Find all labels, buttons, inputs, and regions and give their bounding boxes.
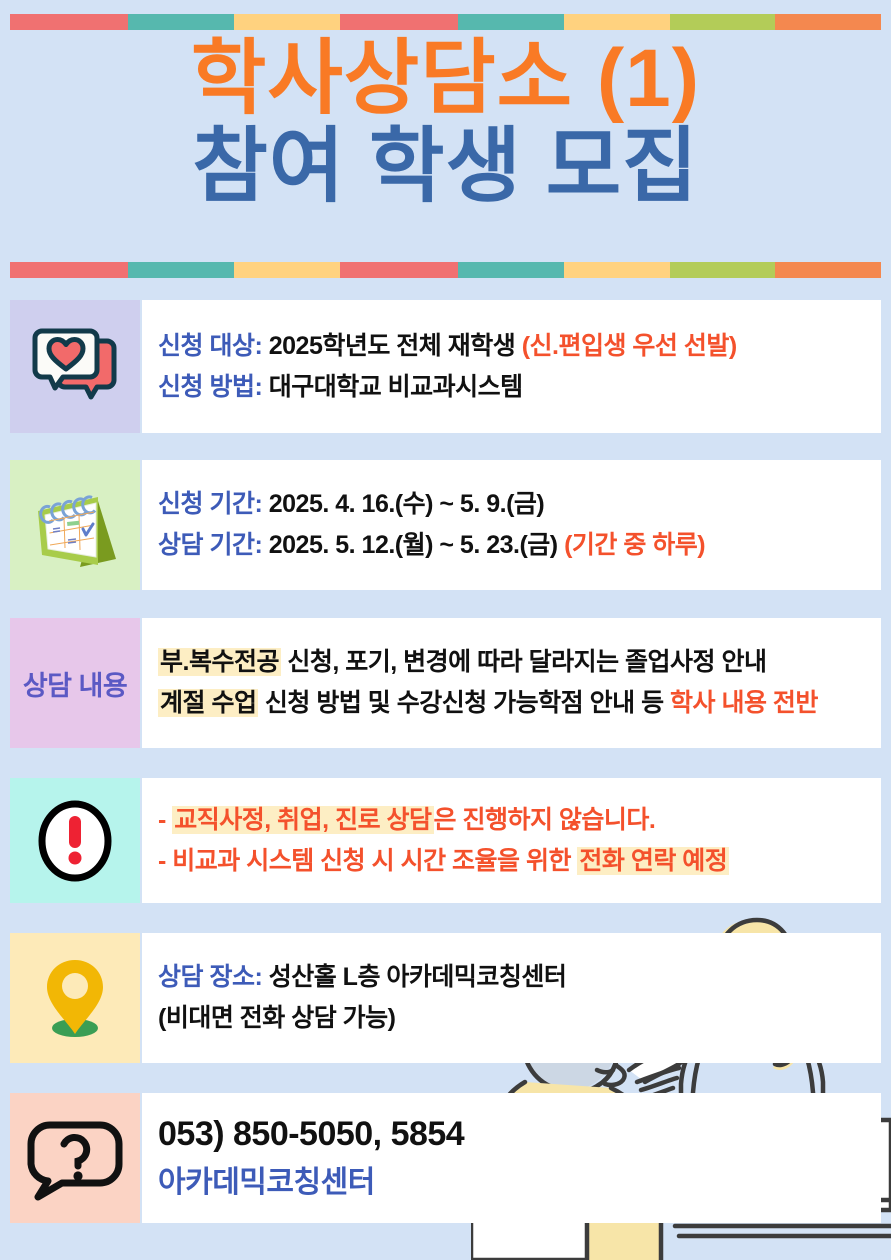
period-consult-accent: (기간 중 하루) (564, 531, 705, 559)
period-apply-label: 신청 기간: (158, 490, 262, 518)
content-value-2: 신청 방법 및 수강신청 가능학점 안내 등 (258, 689, 670, 717)
content-accent-2: 학사 내용 전반 (670, 689, 818, 717)
exclamation-circle-icon (36, 798, 114, 884)
top-color-stripe-bar (10, 14, 881, 30)
notice-highlight-1: 교직사정, 취업, 진로 상담 (172, 806, 433, 834)
stripe-segment (775, 14, 881, 30)
content-value-1: 신청, 포기, 변경에 따라 달라지는 졸업사정 안내 (281, 648, 767, 676)
contact-phone: 053) 850-5050, 5854 (158, 1115, 881, 1154)
stripe-segment (10, 14, 128, 30)
stripe-segment (670, 14, 776, 30)
notice-line-2: - 비교과 시스템 신청 시 시간 조율을 위한 전화 연락 예정 (158, 847, 881, 876)
target-method-label: 신청 방법: (158, 373, 262, 401)
info-row-contact: 053) 850-5050, 5854 아카데믹코칭센터 (10, 1093, 881, 1223)
notice-value-1: 은 진행하지 않습니다. (434, 806, 656, 834)
stripe-segment (775, 262, 881, 278)
info-row-notice: - 교직사정, 취업, 진로 상담은 진행하지 않습니다. - 비교과 시스템 … (10, 778, 881, 903)
info-row-period: 신청 기간: 2025. 4. 16.(수) ~ 5. 9.(금) 상담 기간:… (10, 460, 881, 590)
icon-cell-notice (10, 778, 140, 903)
notice-dash-1: - (158, 806, 166, 834)
period-consult-value: 2025. 5. 12.(월) ~ 5. 23.(금) (269, 531, 558, 559)
info-row-place: 상담 장소: 성산홀 L층 아카데믹코칭센터 (비대면 전화 상담 가능) (10, 933, 881, 1063)
content-highlight-1: 부.복수전공 (158, 648, 281, 676)
place-value: 성산홀 L층 아카데믹코칭센터 (269, 963, 567, 991)
target-apply-value: 2025학년도 전체 재학생 (269, 332, 516, 360)
place-note: (비대면 전화 상담 가능) (158, 1004, 396, 1032)
target-method-line: 신청 방법: 대구대학교 비교과시스템 (158, 373, 881, 402)
poster-title-block: 학사상담소 (1) 참여 학생 모집 (0, 38, 891, 208)
question-bubble-icon (26, 1115, 124, 1201)
stripe-segment (128, 14, 234, 30)
info-row-content: 상담 내용 부.복수전공 신청, 포기, 변경에 따라 달라지는 졸업사정 안내… (10, 618, 881, 748)
title-line-1: 학사상담소 (1) (0, 38, 891, 120)
content-line-2: 계절 수업 신청 방법 및 수강신청 가능학점 안내 등 학사 내용 전반 (158, 689, 881, 718)
stripe-segment (234, 262, 340, 278)
icon-cell-content: 상담 내용 (10, 618, 140, 748)
notice-value-2: 비교과 시스템 신청 시 시간 조율을 위한 (172, 847, 577, 875)
desk-calendar-icon (20, 477, 130, 573)
stripe-segment (670, 262, 776, 278)
icon-cell-place (10, 933, 140, 1063)
text-cell-notice: - 교직사정, 취업, 진로 상담은 진행하지 않습니다. - 비교과 시스템 … (142, 778, 881, 903)
target-apply-label: 신청 대상: (158, 332, 262, 360)
place-line-1: 상담 장소: 성산홀 L층 아카데믹코칭센터 (158, 963, 881, 992)
stripe-segment (340, 14, 458, 30)
contact-department: 아카데믹코칭센터 (158, 1166, 881, 1201)
icon-cell-contact (10, 1093, 140, 1223)
notice-line-1: - 교직사정, 취업, 진로 상담은 진행하지 않습니다. (158, 806, 881, 835)
stripe-segment (458, 14, 564, 30)
target-apply-line: 신청 대상: 2025학년도 전체 재학생 (신.편입생 우선 선발) (158, 332, 881, 361)
stripe-segment (10, 262, 128, 278)
place-label: 상담 장소: (158, 963, 262, 991)
notice-dash-2: - (158, 847, 166, 875)
chat-heart-icon (29, 325, 121, 409)
text-cell-contact: 053) 850-5050, 5854 아카데믹코칭센터 (142, 1093, 881, 1223)
location-pin-icon (36, 952, 114, 1044)
target-method-value: 대구대학교 비교과시스템 (269, 373, 523, 401)
icon-cell-target (10, 300, 140, 433)
text-cell-content: 부.복수전공 신청, 포기, 변경에 따라 달라지는 졸업사정 안내 계절 수업… (142, 618, 881, 748)
notice-highlight-2: 전화 연락 예정 (577, 847, 729, 875)
bottom-color-stripe-bar (10, 262, 881, 278)
place-line-2: (비대면 전화 상담 가능) (158, 1004, 881, 1033)
stripe-segment (564, 14, 670, 30)
stripe-segment (458, 262, 564, 278)
stripe-segment (234, 14, 340, 30)
icon-cell-period (10, 460, 140, 590)
text-cell-target: 신청 대상: 2025학년도 전체 재학생 (신.편입생 우선 선발) 신청 방… (142, 300, 881, 433)
stripe-segment (340, 262, 458, 278)
info-row-target: 신청 대상: 2025학년도 전체 재학생 (신.편입생 우선 선발) 신청 방… (10, 300, 881, 433)
stripe-segment (128, 262, 234, 278)
poster-root: 학사상담소 (1) 참여 학생 모집 신청 대상: 2025학년도 전체 재학생… (0, 0, 891, 1260)
title-line-2: 참여 학생 모집 (0, 126, 891, 208)
period-consult-line: 상담 기간: 2025. 5. 12.(월) ~ 5. 23.(금) (기간 중… (158, 531, 881, 560)
stripe-segment (564, 262, 670, 278)
period-apply-line: 신청 기간: 2025. 4. 16.(수) ~ 5. 9.(금) (158, 490, 881, 519)
text-cell-period: 신청 기간: 2025. 4. 16.(수) ~ 5. 9.(금) 상담 기간:… (142, 460, 881, 590)
text-cell-place: 상담 장소: 성산홀 L층 아카데믹코칭센터 (비대면 전화 상담 가능) (142, 933, 881, 1063)
consult-content-label: 상담 내용 (23, 664, 127, 703)
content-line-1: 부.복수전공 신청, 포기, 변경에 따라 달라지는 졸업사정 안내 (158, 648, 881, 677)
content-highlight-2: 계절 수업 (158, 689, 258, 717)
period-apply-value: 2025. 4. 16.(수) ~ 5. 9.(금) (269, 490, 545, 518)
target-apply-accent: (신.편입생 우선 선발) (522, 332, 737, 360)
period-consult-label: 상담 기간: (158, 531, 262, 559)
